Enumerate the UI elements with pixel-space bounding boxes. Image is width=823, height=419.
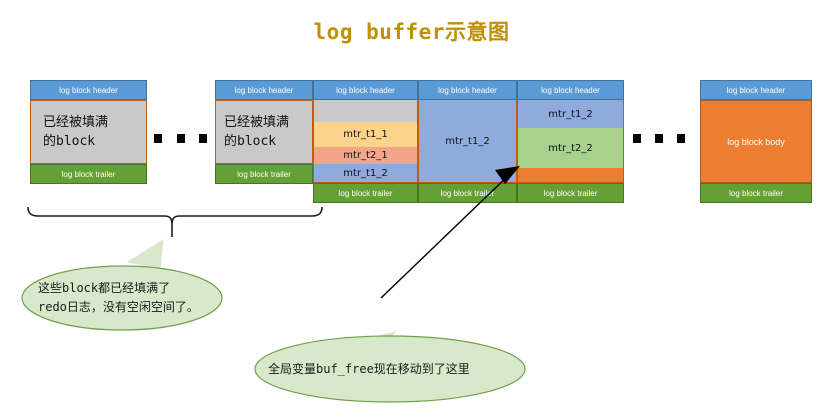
- annotation-layer: [0, 0, 823, 419]
- buf-free-arrow: [381, 166, 520, 298]
- callout-buf-free-text: 全局变量buf_free现在移动到了这里: [268, 360, 518, 379]
- filled-blocks-brace: [28, 207, 322, 237]
- diagram-canvas: log buffer示意图 log block header 已经被填满 的bl…: [0, 0, 823, 419]
- callout-filled-blocks-text: 这些block都已经填满了 redo日志，没有空闲空间了。: [38, 279, 218, 316]
